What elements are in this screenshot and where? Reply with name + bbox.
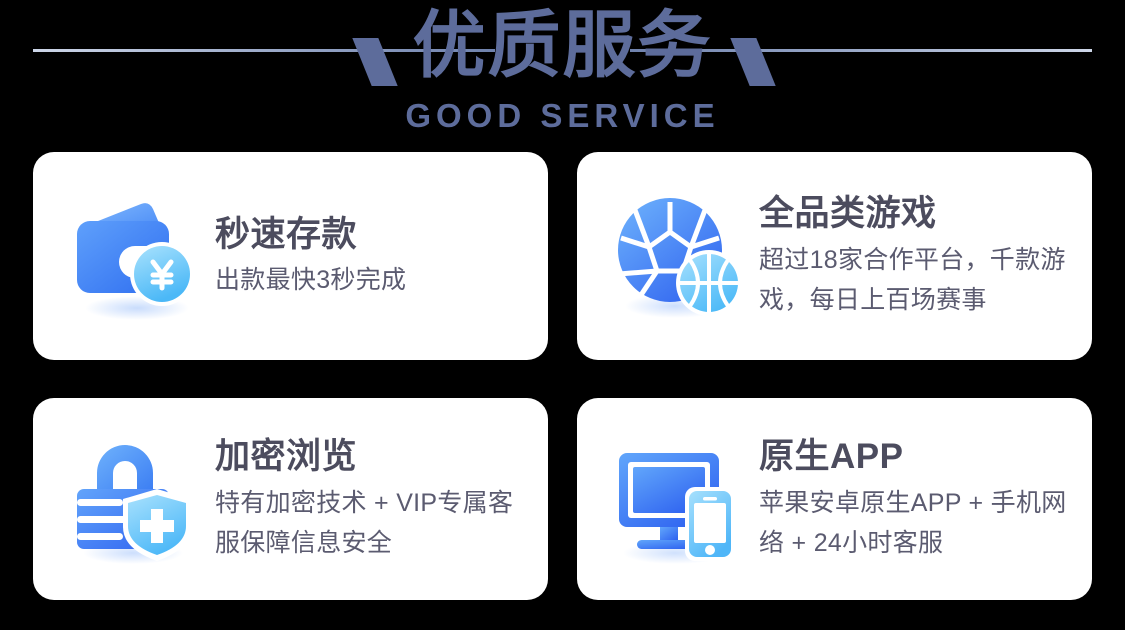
service-card-text: 秒速存款 出款最快3秒完成: [215, 213, 548, 299]
promo-banner: 优质服务 GOOD SERVICE: [0, 0, 1125, 630]
banner-header: 优质服务 GOOD SERVICE: [0, 0, 1125, 148]
page-subtitle: GOOD SERVICE: [0, 97, 1125, 135]
service-card-games[interactable]: 全品类游戏 超过18家合作平台，千款游戏，每日上百场赛事: [577, 152, 1092, 360]
wallet-icon: [67, 190, 199, 322]
service-card-text: 原生APP 苹果安卓原生APP + 手机网络 + 24小时客服: [759, 435, 1092, 563]
service-card-text: 全品类游戏 超过18家合作平台，千款游戏，每日上百场赛事: [759, 192, 1092, 320]
service-card-title: 全品类游戏: [759, 192, 1074, 236]
service-card-encryption[interactable]: 加密浏览 特有加密技术 + VIP专属客服保障信息安全: [33, 398, 548, 600]
soccer-basketball-icon: [611, 190, 743, 322]
service-card-title: 加密浏览: [215, 435, 530, 479]
service-card-title: 秒速存款: [215, 213, 530, 257]
lock-shield-icon: [67, 433, 199, 565]
service-card-desc: 超过18家合作平台，千款游戏，每日上百场赛事: [759, 240, 1074, 320]
service-card-native-app[interactable]: 原生APP 苹果安卓原生APP + 手机网络 + 24小时客服: [577, 398, 1092, 600]
monitor-phone-icon: [611, 433, 743, 565]
service-card-deposit[interactable]: 秒速存款 出款最快3秒完成: [33, 152, 548, 360]
page-title: 优质服务: [0, 4, 1125, 88]
service-card-grid: 秒速存款 出款最快3秒完成: [33, 152, 1092, 600]
service-card-title: 原生APP: [759, 435, 1074, 479]
service-card-desc: 苹果安卓原生APP + 手机网络 + 24小时客服: [759, 483, 1074, 563]
service-card-desc: 特有加密技术 + VIP专属客服保障信息安全: [215, 483, 530, 563]
service-card-desc: 出款最快3秒完成: [215, 261, 530, 299]
service-card-text: 加密浏览 特有加密技术 + VIP专属客服保障信息安全: [215, 435, 548, 563]
